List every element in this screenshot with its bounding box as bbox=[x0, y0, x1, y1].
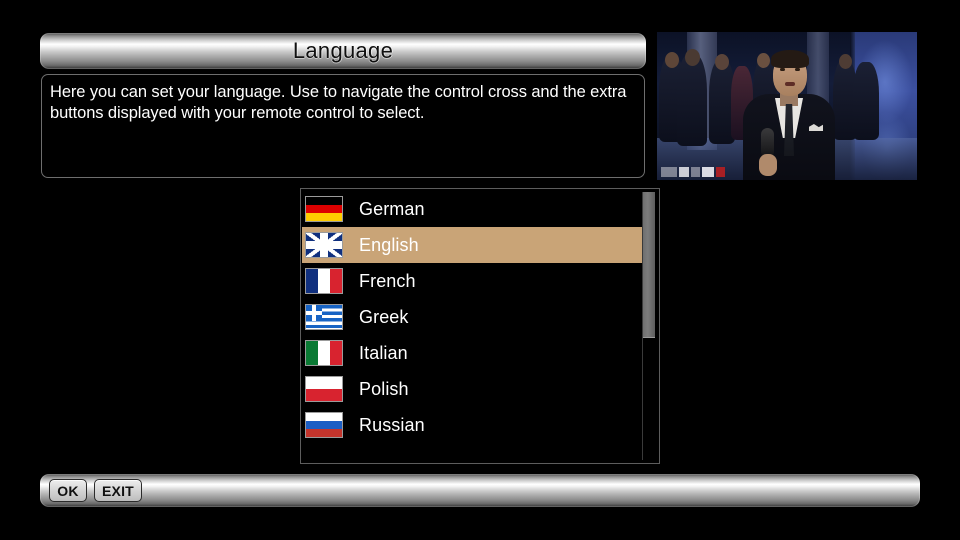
language-label: Russian bbox=[359, 416, 425, 434]
preview-reporter-eye bbox=[795, 68, 800, 71]
description-panel: Here you can set your language. Use to n… bbox=[41, 74, 645, 178]
flag-germany-icon bbox=[305, 196, 343, 222]
language-label: English bbox=[359, 236, 419, 254]
exit-button[interactable]: EXIT bbox=[94, 479, 142, 502]
language-row-greek[interactable]: Greek bbox=[302, 299, 644, 335]
flag-italy-icon bbox=[305, 340, 343, 366]
preview-reporter-mouth bbox=[785, 82, 795, 86]
flag-greece-icon bbox=[305, 304, 343, 330]
preview-crowd-head bbox=[839, 54, 852, 69]
preview-crowd-figure bbox=[853, 62, 879, 140]
description-text: Here you can set your language. Use to n… bbox=[50, 82, 636, 124]
preview-reporter-hand bbox=[759, 154, 777, 176]
scrollbar-thumb[interactable] bbox=[643, 192, 655, 338]
language-row-french[interactable]: French bbox=[302, 263, 644, 299]
preview-crowd-figure bbox=[677, 54, 707, 146]
language-row-italian[interactable]: Italian bbox=[302, 335, 644, 371]
title-bar: Language bbox=[40, 33, 646, 69]
language-label: Italian bbox=[359, 344, 408, 362]
vertical-scrollbar[interactable] bbox=[642, 192, 655, 460]
preview-crowd-head bbox=[757, 53, 770, 68]
language-label: German bbox=[359, 200, 425, 218]
news-channel-bug-icon bbox=[661, 166, 727, 177]
language-list: GermanEnglishFrenchGreekItalianPolishRus… bbox=[302, 191, 644, 443]
preview-reporter-hair bbox=[771, 50, 809, 68]
flag-russia-icon bbox=[305, 412, 343, 438]
language-label: French bbox=[359, 272, 416, 290]
preview-crowd-head bbox=[685, 49, 700, 66]
flag-poland-icon bbox=[305, 376, 343, 402]
ok-button[interactable]: OK bbox=[49, 479, 87, 502]
language-row-german[interactable]: German bbox=[302, 191, 644, 227]
softkey-bar: OK EXIT bbox=[40, 474, 920, 507]
language-row-russian[interactable]: Russian bbox=[302, 407, 644, 443]
language-label: Polish bbox=[359, 380, 409, 398]
preview-crowd-head bbox=[665, 52, 679, 68]
language-label: Greek bbox=[359, 308, 409, 326]
preview-reporter-eye bbox=[780, 68, 785, 71]
flag-france-icon bbox=[305, 268, 343, 294]
flag-united-kingdom-icon bbox=[305, 232, 343, 258]
language-row-english[interactable]: English bbox=[302, 227, 644, 263]
page-title: Language bbox=[293, 40, 393, 62]
language-row-polish[interactable]: Polish bbox=[302, 371, 644, 407]
live-tv-preview[interactable] bbox=[657, 32, 917, 180]
osd-screen: Language Here you can set your language.… bbox=[0, 0, 960, 540]
preview-crowd-head bbox=[715, 54, 729, 70]
language-list-panel[interactable]: GermanEnglishFrenchGreekItalianPolishRus… bbox=[300, 188, 660, 464]
